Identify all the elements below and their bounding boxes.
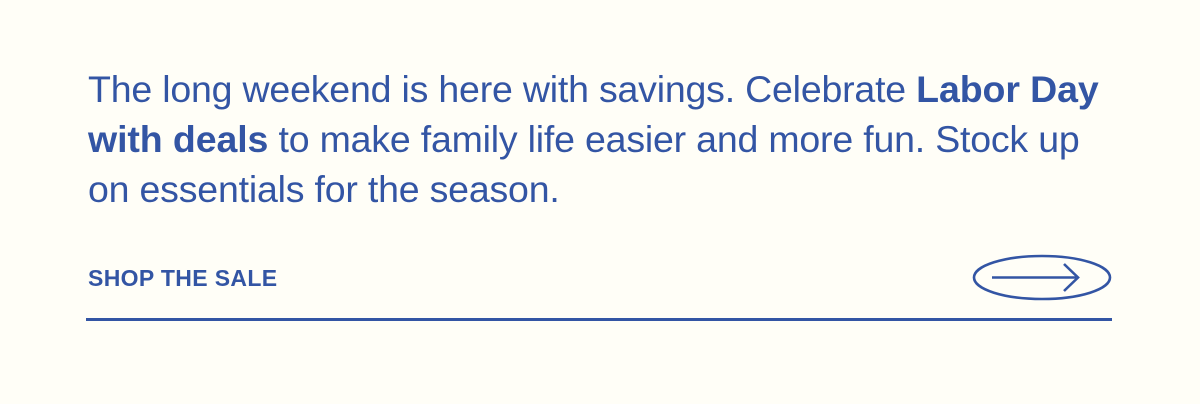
arrow-right-icon[interactable] <box>972 254 1112 301</box>
promo-banner: The long weekend is here with savings. C… <box>0 0 1200 404</box>
headline-text: The long weekend is here with savings. C… <box>88 64 1114 214</box>
cta-divider-line <box>86 318 1112 321</box>
headline-lead: The long weekend is here with savings. C… <box>88 68 916 110</box>
shop-the-sale-link[interactable]: SHOP THE SALE <box>88 264 277 292</box>
cta-row[interactable]: SHOP THE SALE <box>86 252 1112 304</box>
